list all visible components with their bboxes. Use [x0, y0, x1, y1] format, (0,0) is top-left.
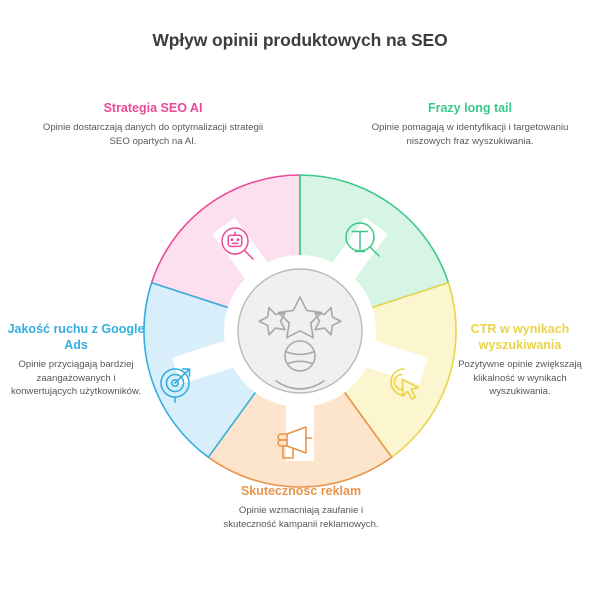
- label-desc-skutecznosc: Opinie wzmacniają zaufanie i skuteczność…: [222, 504, 380, 531]
- label-title-ctr: CTR w wynikach wyszukiwania: [444, 321, 596, 353]
- seo-wheel-diagram: [130, 161, 470, 501]
- label-desc-frazy: Opinie pomagają w identyfikacji i target…: [370, 121, 570, 148]
- label-jakosc-ruchu: Jakość ruchu z Google Ads Opinie przycią…: [6, 321, 146, 399]
- label-title-frazy: Frazy long tail: [370, 100, 570, 116]
- label-desc-strategia: Opinie dostarczają danych do optymalizac…: [38, 121, 268, 148]
- label-frazy-long-tail: Frazy long tail Opinie pomagają w identy…: [370, 100, 570, 148]
- label-title-jakosc: Jakość ruchu z Google Ads: [6, 321, 146, 353]
- label-desc-ctr: Pozytywne opinie zwiększają klikalność w…: [444, 358, 596, 399]
- label-title-skutecznosc: Skuteczność reklam: [222, 483, 380, 499]
- label-desc-jakosc: Opinie przyciągają bardziej zaangażowany…: [6, 358, 146, 399]
- label-skutecznosc-reklam: Skuteczność reklam Opinie wzmacniają zau…: [222, 483, 380, 531]
- label-ctr-w-wynikach: CTR w wynikach wyszukiwania Pozytywne op…: [444, 321, 596, 399]
- label-title-strategia: Strategia SEO AI: [38, 100, 268, 116]
- page-title: Wpływ opinii produktowych na SEO: [0, 30, 600, 51]
- label-strategia-seo-ai: Strategia SEO AI Opinie dostarczają dany…: [38, 100, 268, 148]
